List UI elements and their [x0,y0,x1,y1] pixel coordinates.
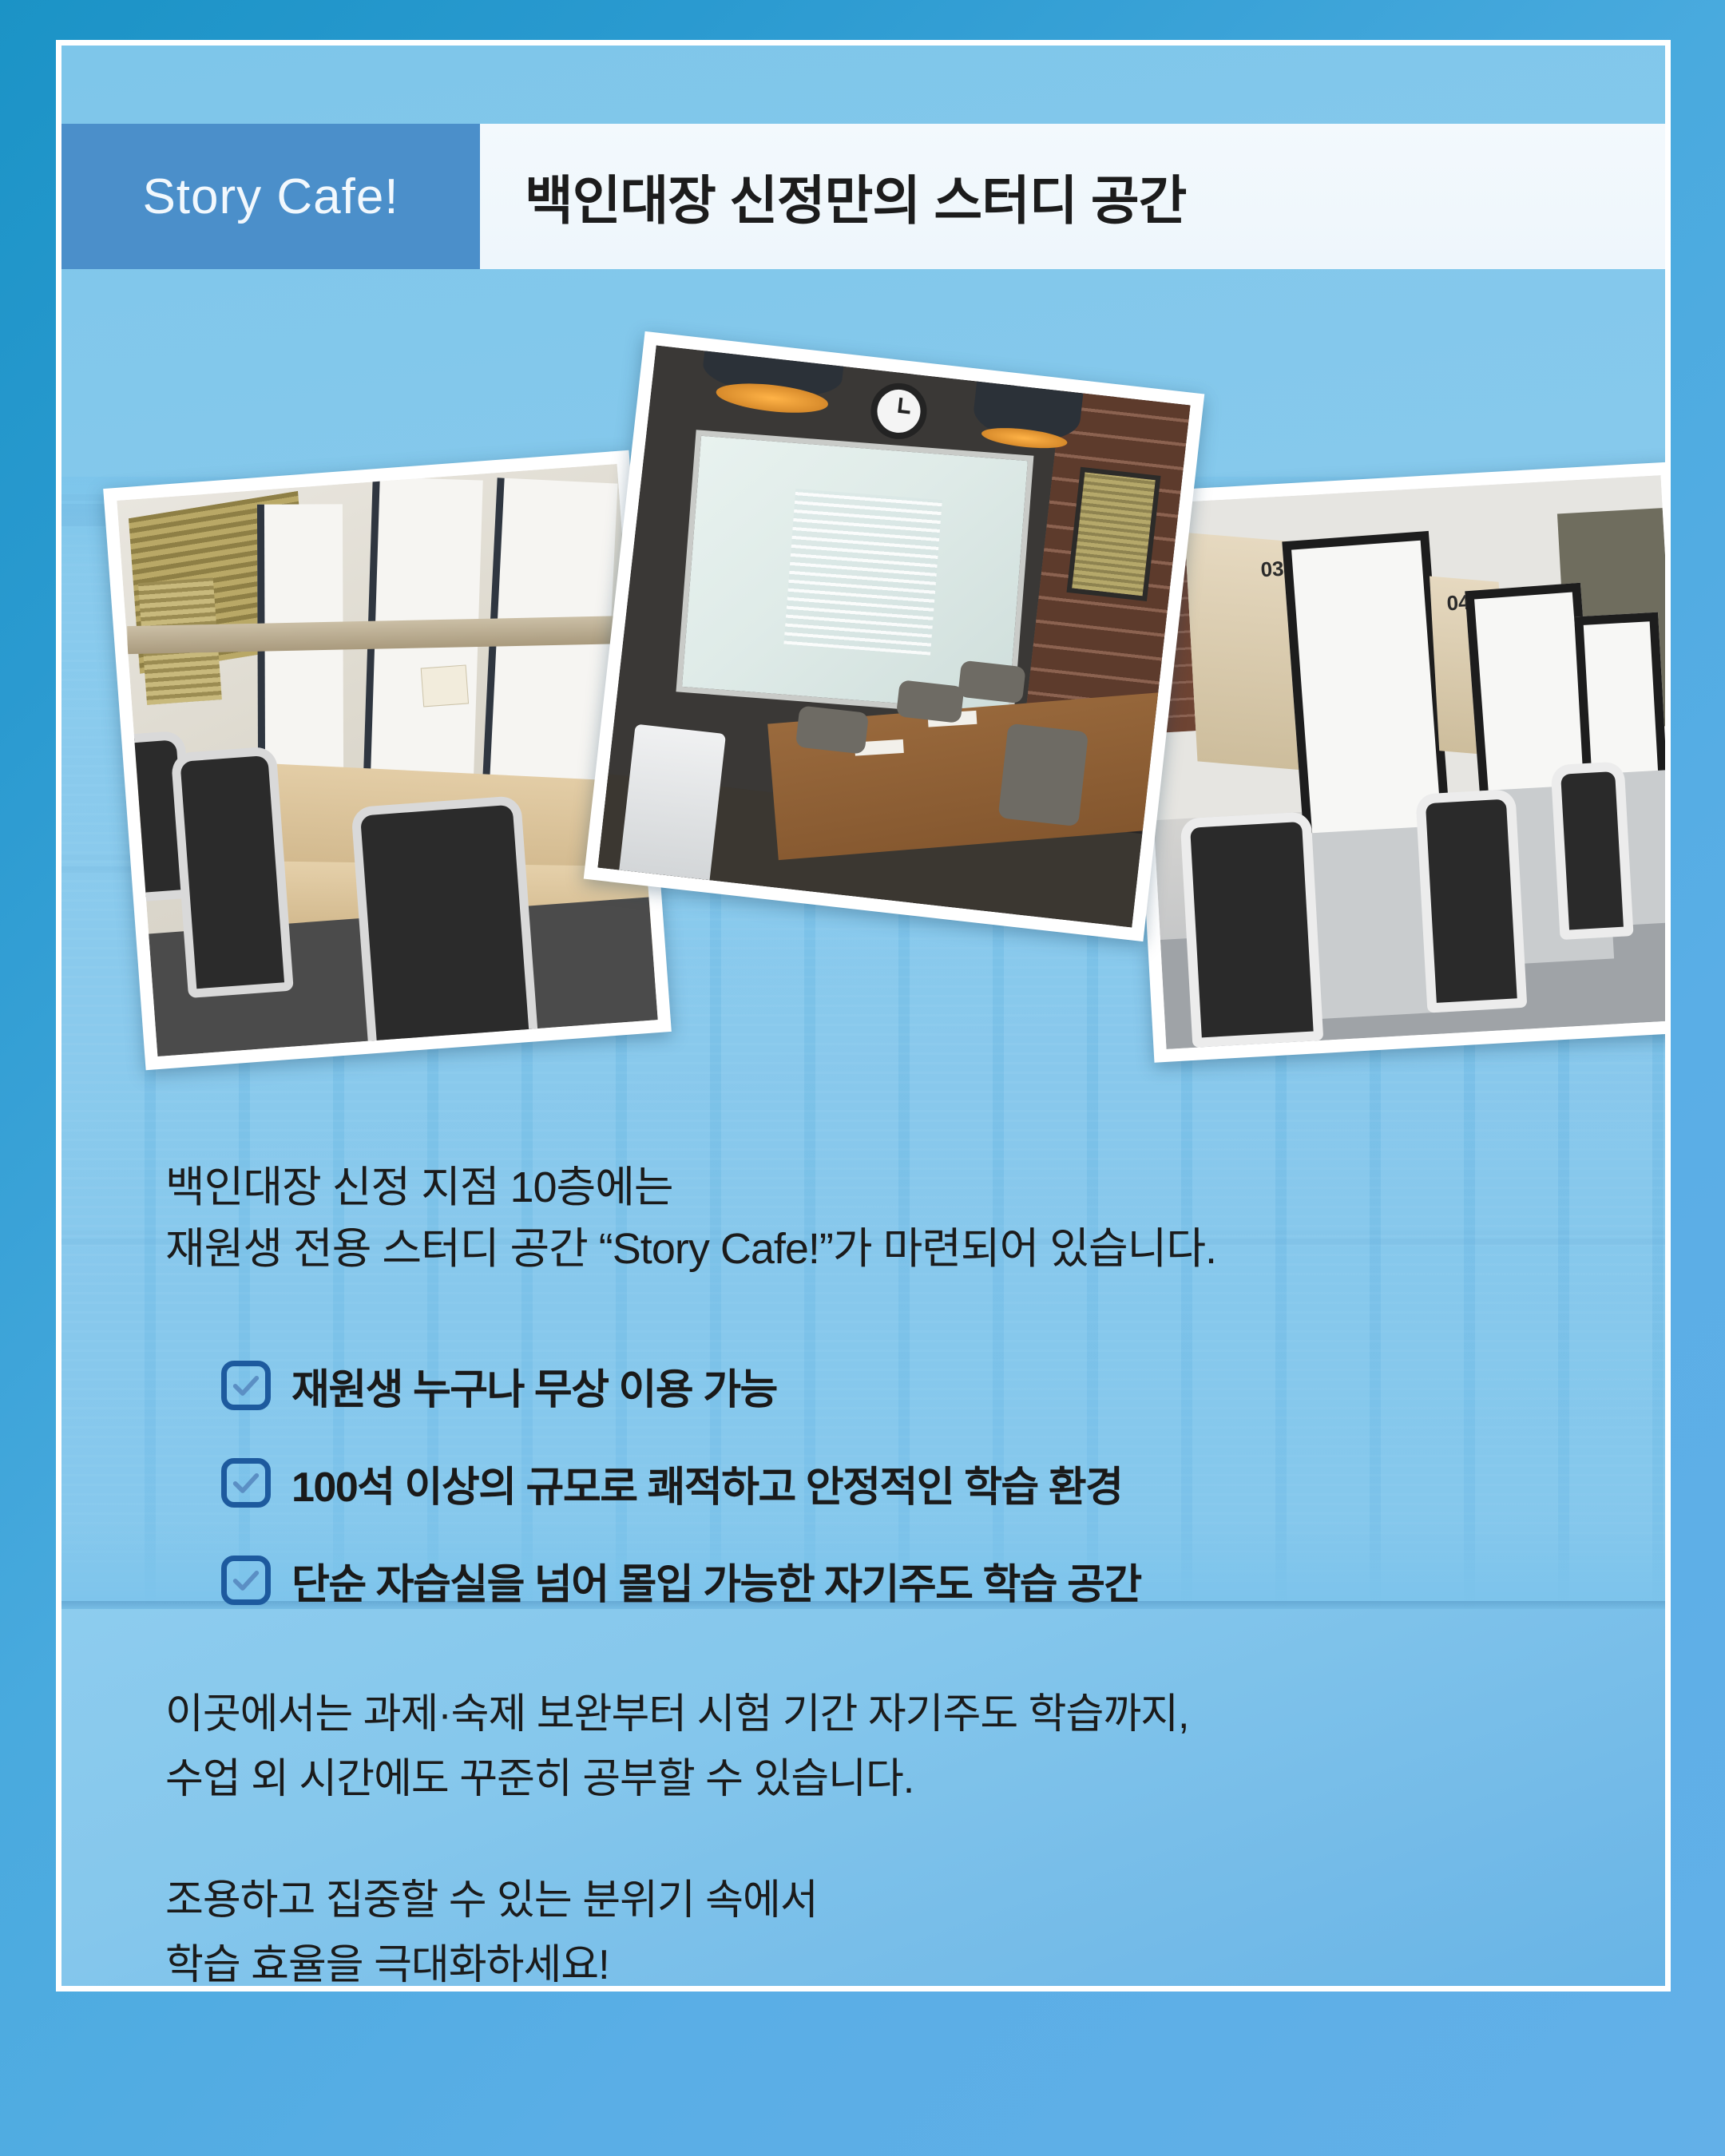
list-item: 재원생 누구나 무상 이용 가능 [221,1346,1595,1425]
list-item: 단순 자습실을 넘어 몰입 가능한 자기주도 학습 공간 [221,1540,1595,1620]
intro-paragraph: 백인대장 신정 지점 10층에는 재원생 전용 스터디 공간 “Story Ca… [165,1157,1523,1279]
outro-p2-line-2: 학습 효율을 극대화하세요! [165,1933,1571,1992]
outro-paragraphs: 이곳에서는 과제·숙제 보완부터 시험 기간 자기주도 학습까지, 수업 외 시… [165,1682,1571,1992]
outro-p2-line-1: 조용하고 집중할 수 있는 분위기 속에서 [165,1869,1571,1933]
list-item: 100석 이상의 규모로 쾌적하고 안정적인 학습 환경 [221,1443,1595,1523]
photo-individual-booths: 03 04 [1123,462,1671,1062]
poster-frame: Story Cafe! 백인대장 신정만의 스터디 공간 [56,40,1671,1992]
booth-number-03: 03 [1260,557,1285,583]
intro-line-2: 재원생 전용 스터디 공간 “Story Cafe!”가 마련되어 있습니다. [165,1219,1523,1280]
paragraph-spacer [165,1811,1571,1869]
intro-line-1: 백인대장 신정 지점 10층에는 [165,1157,1523,1219]
photo-study-carrels [103,450,672,1070]
page-title: 백인대장 신정만의 스터디 공간 [525,158,1186,235]
feature-label-1: 재원생 누구나 무상 이용 가능 [291,1356,777,1416]
feature-label-3: 단순 자습실을 넘어 몰입 가능한 자기주도 학습 공간 [291,1551,1141,1611]
title-bar: 백인대장 신정만의 스터디 공간 [480,124,1665,269]
photo-group-study-room [584,331,1205,941]
checkbox-checked-icon [221,1458,271,1508]
outro-p1-line-2: 수업 외 시간에도 꾸준히 공부할 수 있습니다. [165,1747,1571,1812]
brand-badge-label: Story Cafe! [142,168,399,225]
feature-list: 재원생 누구나 무상 이용 가능 100석 이상의 규모로 쾌적하고 안정적인 … [221,1346,1595,1638]
outro-p1-line-1: 이곳에서는 과제·숙제 보완부터 시험 기간 자기주도 학습까지, [165,1682,1571,1747]
checkbox-checked-icon [221,1361,271,1410]
brand-badge: Story Cafe! [61,124,480,269]
header: Story Cafe! 백인대장 신정만의 스터디 공간 [61,124,1665,269]
checkbox-checked-icon [221,1556,271,1605]
feature-label-2: 100석 이상의 규모로 쾌적하고 안정적인 학습 환경 [291,1453,1122,1513]
